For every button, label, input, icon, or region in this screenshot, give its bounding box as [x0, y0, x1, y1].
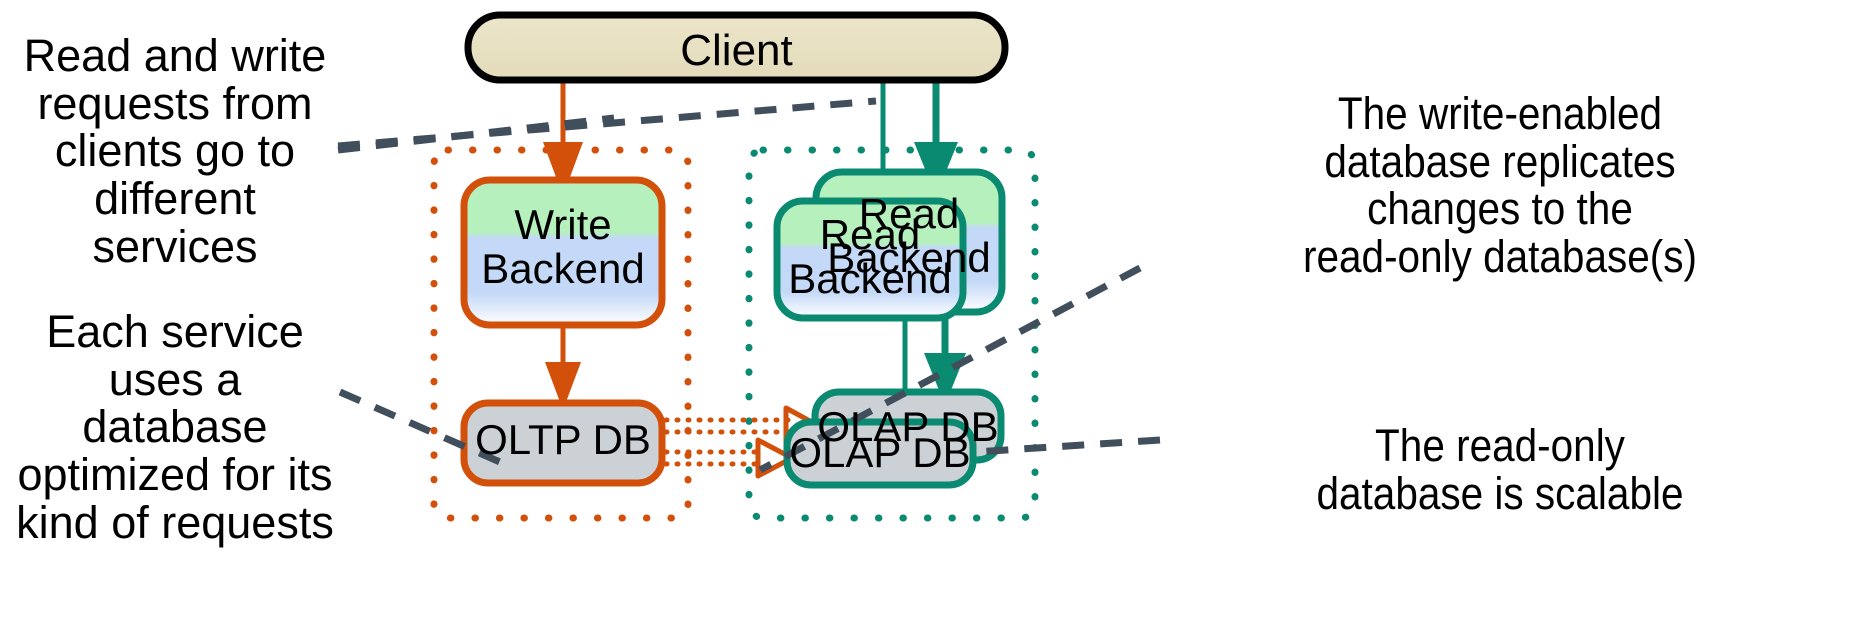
node-olap-db-front[interactable]	[787, 422, 973, 485]
node-read-backend-front[interactable]	[777, 201, 963, 318]
node-client[interactable]	[468, 15, 1005, 80]
annotation-bottom-left: Each service uses a database optimized f…	[10, 308, 340, 546]
node-write-backend[interactable]	[464, 180, 662, 325]
annotation-top-left: Read and write requests from clients go …	[10, 32, 340, 270]
annotation-bottom-right: The read-only database is scalable	[1167, 422, 1833, 517]
arrow-write-backend-to-oltp	[545, 325, 581, 410]
annotation-top-right: The write-enabled database replicates ch…	[1167, 90, 1833, 281]
replication-arrow-lower	[666, 440, 792, 476]
node-oltp-db[interactable]	[464, 403, 662, 483]
diagram-canvas: Client Write Backend Read Backend Read B…	[0, 0, 1873, 634]
